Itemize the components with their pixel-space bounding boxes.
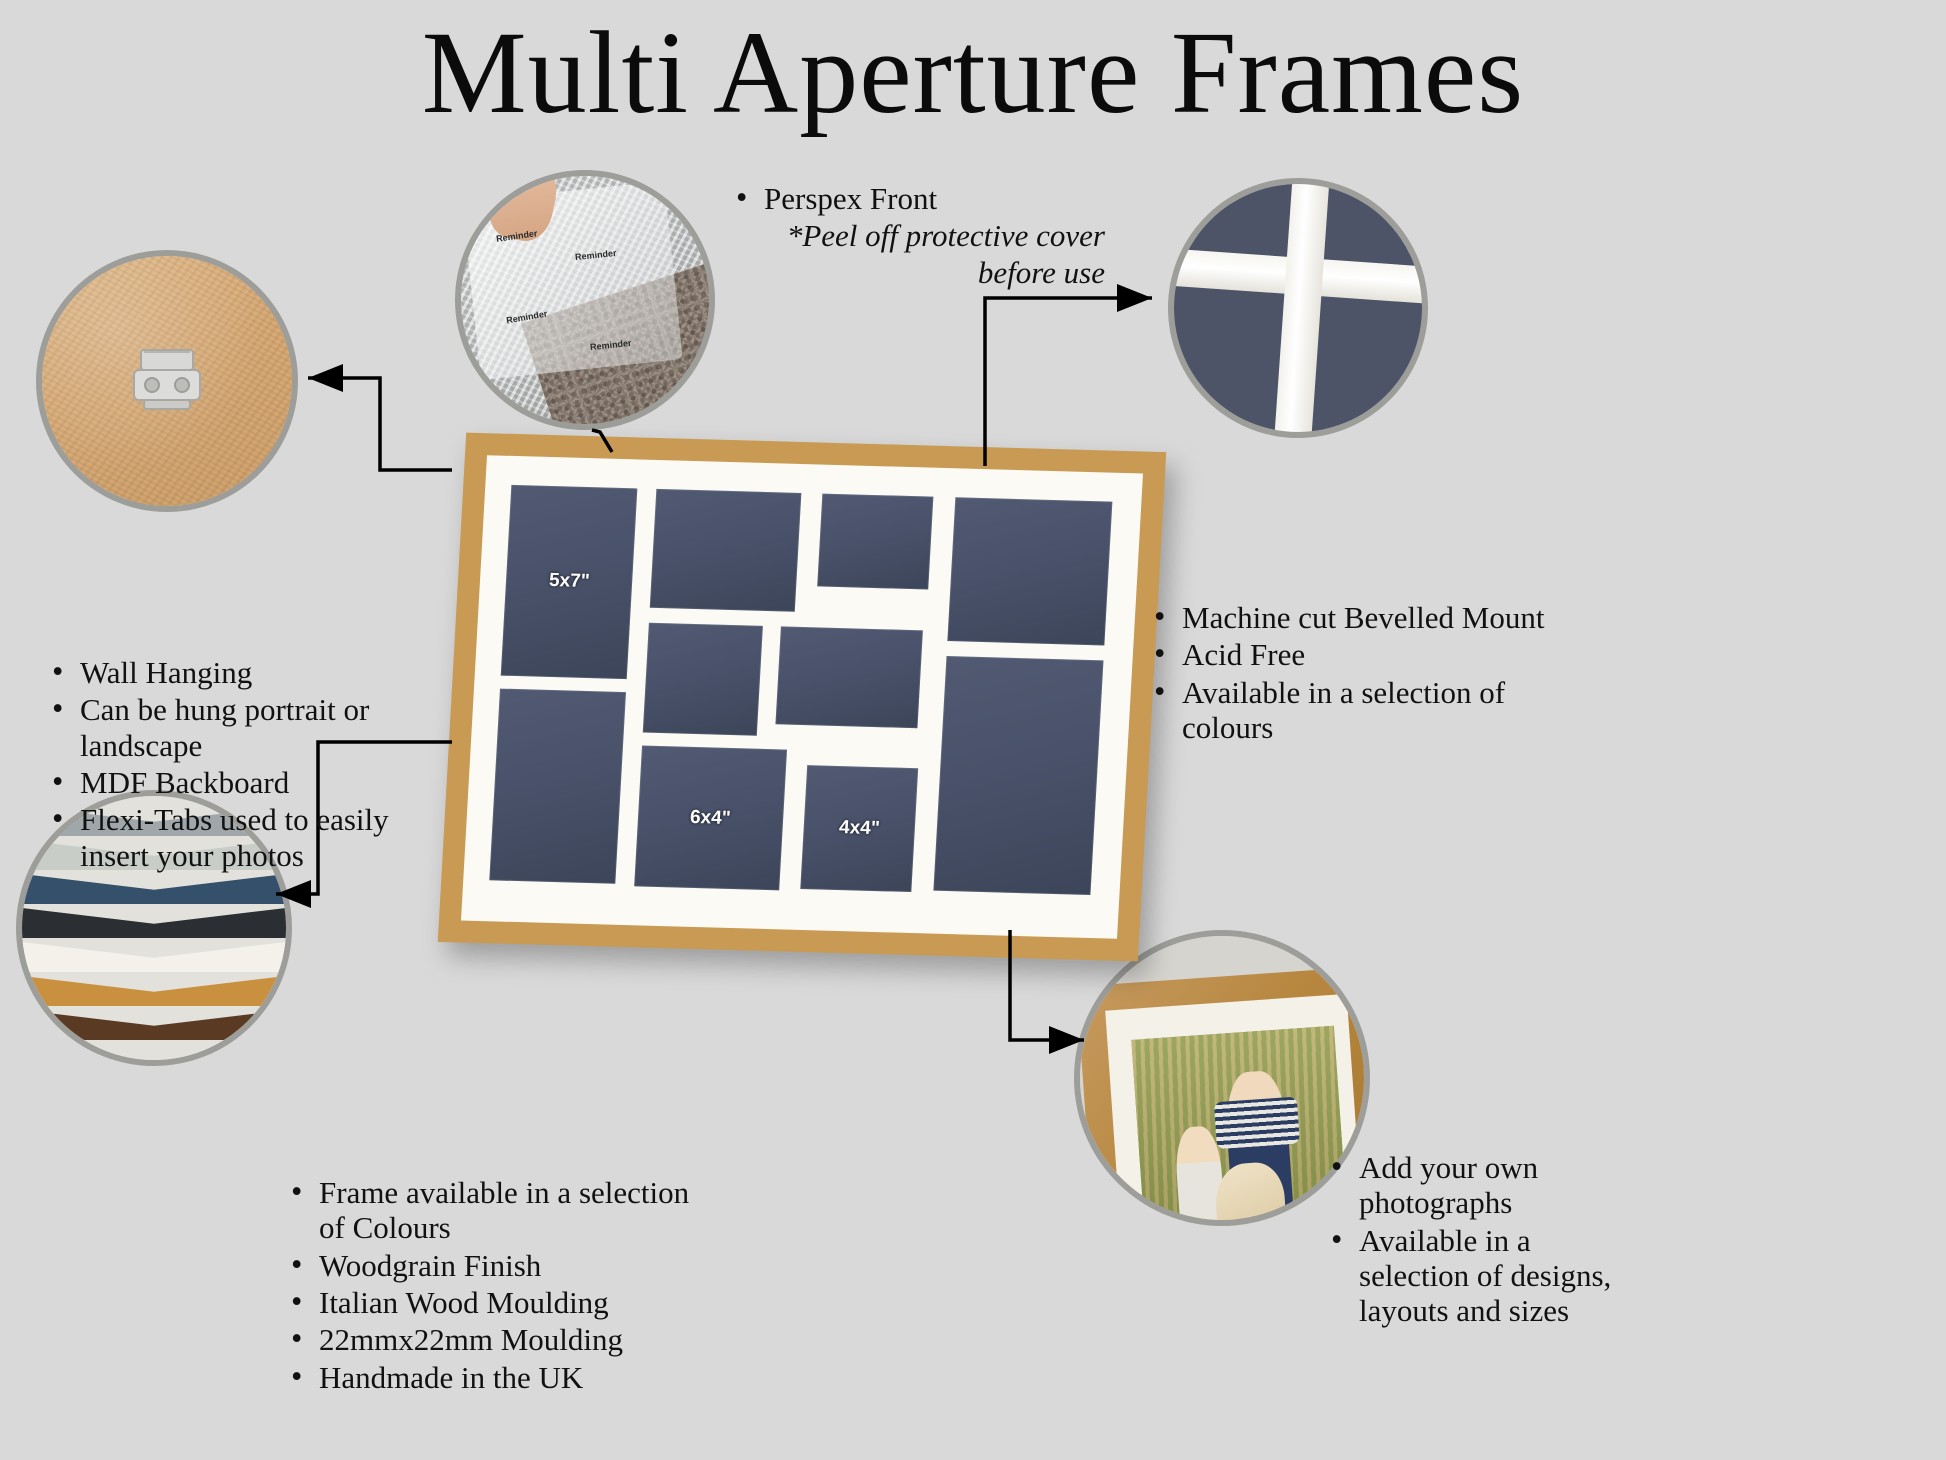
list-item: Italian Wood Moulding: [285, 1285, 705, 1320]
perspex-peel-photo: Reminder Reminder Reminder Reminder: [455, 170, 715, 430]
flexi-tab-icon: [124, 348, 210, 414]
list-item: Machine cut Bevelled Mount: [1148, 600, 1568, 635]
page-title: Multi Aperture Frames: [0, 14, 1946, 132]
photograph: [1131, 1025, 1350, 1226]
features-list-bottom-right: Add your own photographs Available in a …: [1325, 1150, 1625, 1331]
aperture-label: 5x7": [548, 570, 590, 593]
swatch-blue: [16, 870, 292, 904]
swatch-white: [16, 938, 292, 972]
features-list-left: Wall Hanging Can be hung portrait or lan…: [46, 655, 446, 875]
list-item: Can be hung portrait or landscape: [46, 692, 446, 763]
multi-aperture-frame-product: 5x7" 6x4" 4x4": [438, 433, 1166, 962]
aperture-square-top: [817, 493, 933, 590]
list-item: Available in a selection of colours: [1148, 675, 1568, 746]
list-item: Woodgrain Finish: [285, 1248, 705, 1283]
features-list-right: Machine cut Bevelled Mount Acid Free Ava…: [1148, 600, 1568, 747]
arrow-to-mdf-backboard: [308, 378, 452, 470]
list-item: Wall Hanging: [46, 655, 446, 690]
family-photo-scene: [1080, 936, 1364, 1220]
perspex-peel-note: *Peel off protective cover before use: [730, 217, 1105, 291]
infographic-canvas: Multi Aperture Frames Reminder Reminder …: [0, 0, 1946, 1460]
mdf-backboard-photo: [36, 250, 298, 512]
aperture-landscape-1: [650, 488, 801, 611]
list-item: Add your own photographs: [1325, 1150, 1625, 1221]
swatch-walnut: [16, 1006, 292, 1040]
aperture-label: 6x4": [689, 806, 731, 829]
list-item: Available in a selection of designs, lay…: [1325, 1223, 1625, 1329]
aperture-portrait-right: [933, 656, 1103, 894]
aperture-square-mid-1: [643, 622, 763, 736]
aperture-6x4-landscape: 6x4": [634, 746, 787, 890]
list-item: Handmade in the UK: [285, 1360, 705, 1395]
aperture-4x4-square: 4x4": [801, 765, 919, 891]
perspex-bullet: Perspex Front: [730, 180, 1105, 217]
perspex-note-block: Perspex Front *Peel off protective cover…: [730, 180, 1105, 292]
list-item: Flexi-Tabs used to easily insert your ph…: [46, 802, 446, 873]
frame-moulding: 5x7" 6x4" 4x4": [438, 433, 1166, 962]
aperture-portrait-2: [489, 689, 626, 884]
aperture-grid: 5x7" 6x4" 4x4": [482, 476, 1122, 919]
list-item: 22mmx22mm Moulding: [285, 1322, 705, 1357]
swatch-oak: [16, 972, 292, 1006]
aperture-label: 4x4": [838, 817, 880, 840]
features-list-bottom-left: Frame available in a selection of Colour…: [285, 1175, 705, 1397]
frame-mount-board: 5x7" 6x4" 4x4": [461, 455, 1143, 939]
aperture-5x7-portrait: 5x7": [501, 484, 638, 679]
list-item: Acid Free: [1148, 637, 1568, 672]
bevelled-mount-photo: [1168, 178, 1428, 438]
list-item: Frame available in a selection of Colour…: [285, 1175, 705, 1246]
list-item: MDF Backboard: [46, 765, 446, 800]
aperture-landscape-3: [776, 626, 923, 728]
arrow-to-bevelled-mount: [985, 298, 1152, 466]
swatch-black: [16, 904, 292, 938]
aperture-landscape-2: [947, 497, 1112, 646]
